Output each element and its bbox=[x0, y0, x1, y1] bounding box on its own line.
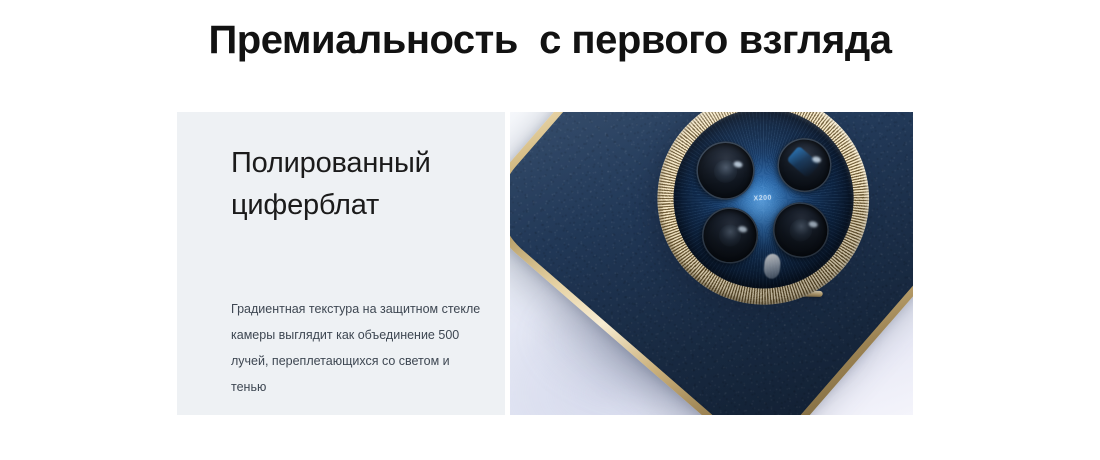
feature-heading: Полированный циферблат bbox=[231, 142, 491, 226]
feature-photo-panel: X200 bbox=[510, 112, 913, 415]
product-photo: X200 bbox=[510, 112, 913, 415]
feature-heading-line-2: циферблат bbox=[231, 184, 491, 226]
feature-heading-line-1: Полированный bbox=[231, 142, 491, 184]
page-title: Премиальность с первого взгляда bbox=[0, 16, 1100, 64]
feature-block: Полированный циферблат Градиентная текст… bbox=[177, 112, 913, 415]
feature-description: Градиентная текстура на защитном стекле … bbox=[231, 296, 481, 400]
feature-text-panel: Полированный циферблат Градиентная текст… bbox=[177, 112, 505, 415]
